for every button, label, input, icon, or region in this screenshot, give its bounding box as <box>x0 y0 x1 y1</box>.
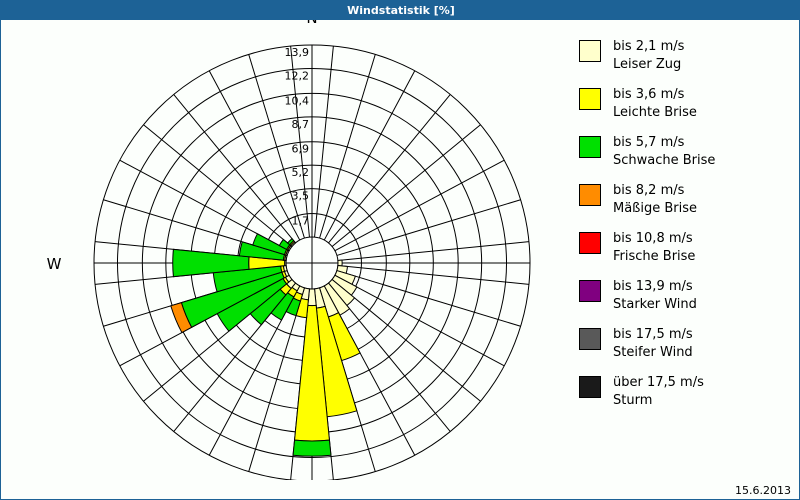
grid-spoke <box>324 71 415 240</box>
radial-tick-label: 3,5 <box>292 190 310 203</box>
legend-label: bis 8,2 m/sMäßige Brise <box>613 182 697 219</box>
legend-color-swatch <box>579 40 601 62</box>
legend-label-name: Starker Wind <box>613 296 697 314</box>
compass-label-north: N <box>306 20 317 27</box>
radial-tick-label: 13,9 <box>285 46 310 59</box>
legend-label-speed: bis 2,1 m/s <box>613 38 684 56</box>
legend-color-swatch <box>579 184 601 206</box>
date-stamp: 15.6.2013 <box>735 484 791 497</box>
grid-spoke <box>335 160 504 251</box>
legend-color-swatch <box>579 88 601 110</box>
legend-label: über 17,5 m/sSturm <box>613 374 704 411</box>
legend-label-speed: über 17,5 m/s <box>613 374 704 392</box>
legend-color-swatch <box>579 376 601 398</box>
grid-spoke <box>332 125 480 247</box>
legend-label-speed: bis 17,5 m/s <box>613 326 693 344</box>
legend-label-speed: bis 10,8 m/s <box>613 230 695 248</box>
legend-label-speed: bis 5,7 m/s <box>613 134 715 152</box>
legend-color-swatch <box>579 232 601 254</box>
compass-label-west: W <box>47 255 62 273</box>
grid-spoke <box>320 54 376 238</box>
legend-label-speed: bis 3,6 m/s <box>613 86 697 104</box>
radial-tick-label: 12,2 <box>285 69 310 82</box>
grid-spoke <box>143 125 291 247</box>
legend-item: bis 8,2 m/sMäßige Brise <box>579 182 794 225</box>
legend-label: bis 5,7 m/sSchwache Brise <box>613 134 715 171</box>
legend-item: bis 17,5 m/sSteifer Wind <box>579 326 794 369</box>
legend-label-name: Leiser Zug <box>613 56 684 74</box>
legend-label-name: Leichte Brise <box>613 104 697 122</box>
legend-item: bis 13,9 m/sStarker Wind <box>579 278 794 321</box>
legend-label: bis 2,1 m/sLeiser Zug <box>613 38 684 75</box>
legend-label-speed: bis 8,2 m/s <box>613 182 697 200</box>
radial-tick-label: 6,9 <box>292 143 310 156</box>
legend-label: bis 17,5 m/sSteifer Wind <box>613 326 693 363</box>
legend-item: bis 5,7 m/sSchwache Brise <box>579 134 794 177</box>
radial-tick-label: 8,7 <box>292 118 310 131</box>
grid-spoke <box>337 200 521 256</box>
legend-label-speed: bis 13,9 m/s <box>613 278 697 296</box>
legend-label: bis 3,6 m/sLeichte Brise <box>613 86 697 123</box>
legend: bis 2,1 m/sLeiser Zugbis 3,6 m/sLeichte … <box>579 38 794 422</box>
legend-color-swatch <box>579 280 601 302</box>
windrose-chart: 1,73,55,26,98,710,412,213,9NSWE <box>1 20 566 480</box>
legend-item: über 17,5 m/sSturm <box>579 374 794 417</box>
legend-label-name: Sturm <box>613 392 704 410</box>
petal-group <box>171 234 360 456</box>
compass-label-east: E <box>565 255 566 273</box>
grid-spoke <box>174 94 296 242</box>
legend-item: bis 3,6 m/sLeichte Brise <box>579 86 794 129</box>
radial-tick-label: 5,2 <box>292 166 310 179</box>
radial-tick-label: 10,4 <box>285 94 310 107</box>
petal-segment <box>338 260 342 266</box>
radial-tick-label: 1,7 <box>292 215 310 228</box>
grid-spoke <box>335 275 504 366</box>
legend-label-name: Frische Brise <box>613 248 695 266</box>
legend-label-name: Mäßige Brise <box>613 200 697 218</box>
window-title: Windstatistik [%] <box>347 4 455 17</box>
grid-spoke <box>337 271 521 327</box>
legend-item: bis 2,1 m/sLeiser Zug <box>579 38 794 81</box>
window-titlebar: Windstatistik [%] <box>1 0 800 20</box>
legend-label: bis 10,8 m/sFrische Brise <box>613 230 695 267</box>
legend-color-swatch <box>579 328 601 350</box>
radial-tick-group: 1,73,55,26,98,710,412,213,9 <box>285 46 310 228</box>
legend-label-name: Steifer Wind <box>613 344 693 362</box>
grid-spoke <box>328 94 450 242</box>
legend-item: bis 10,8 m/sFrische Brise <box>579 230 794 273</box>
petal-segment <box>293 440 331 456</box>
windrose-svg: 1,73,55,26,98,710,412,213,9NSWE <box>1 20 566 480</box>
legend-color-swatch <box>579 136 601 158</box>
legend-label-name: Schwache Brise <box>613 152 715 170</box>
legend-label: bis 13,9 m/sStarker Wind <box>613 278 697 315</box>
windstatistik-window: Windstatistik [%] 1,73,55,26,98,710,412,… <box>0 0 800 500</box>
